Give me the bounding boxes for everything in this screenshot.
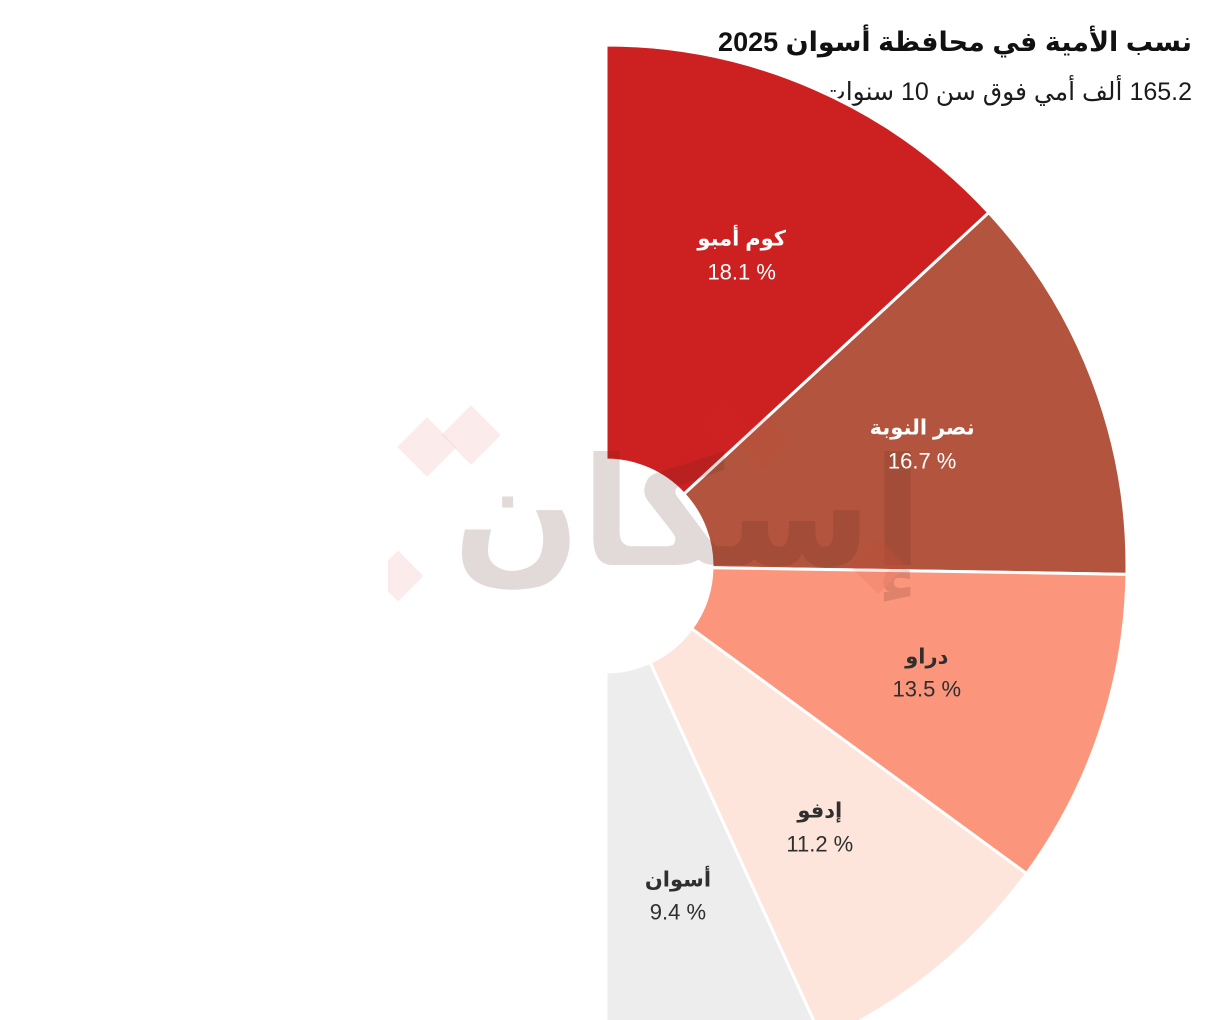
chart-page: نسب الأمية في محافظة أسوان 2025 165.2 أل… xyxy=(0,0,1220,1020)
donut-svg xyxy=(0,0,1220,1020)
half-donut-chart: إسكان كوم أمبو% 18.1نصر النوبة% 16.7دراو… xyxy=(0,0,1220,1020)
donut-slices xyxy=(606,45,1127,1020)
